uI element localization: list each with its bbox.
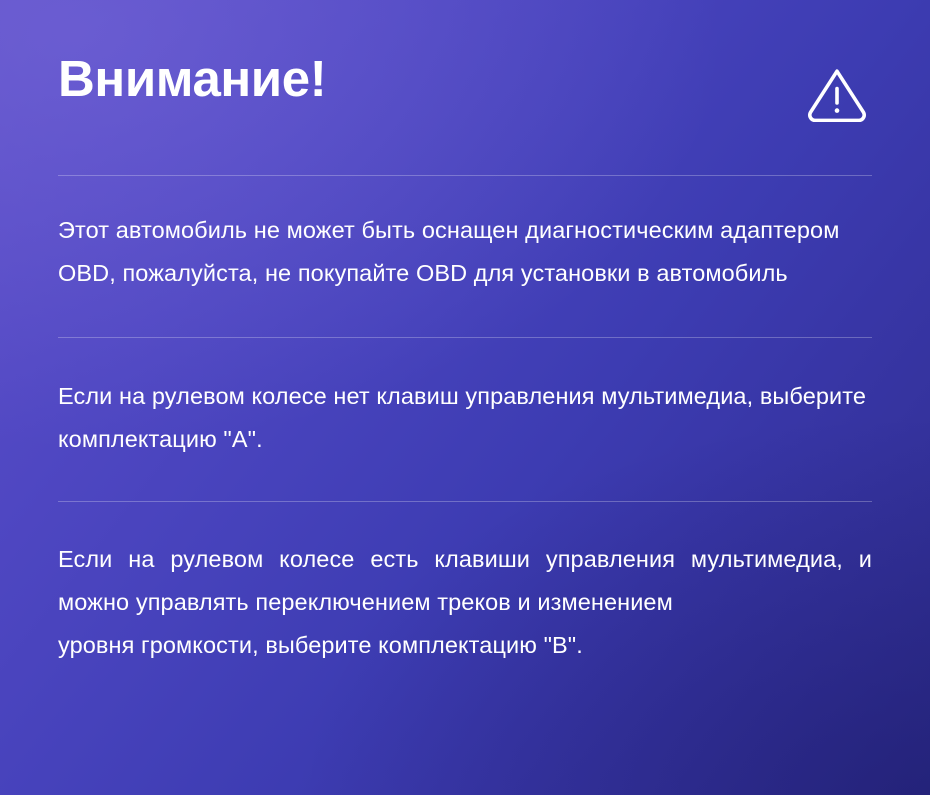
notice-text-variant-b: Если на рулевом колесе есть клавиши упра… [58,502,872,710]
warning-notice-card: Внимание! Этот автомобиль не может быть … [0,0,930,795]
page-title: Внимание! [58,52,326,106]
notice-text-obd-warning: Этот автомобиль не может быть оснащен ди… [58,176,872,295]
notice-text-variant-b-last-line: уровня громкости, выберите комплектацию … [58,624,872,667]
notice-text-variant-b-main: Если на рулевом колесе есть клавиши упра… [58,546,872,615]
warning-triangle-icon [806,66,868,127]
notice-content: Внимание! Этот автомобиль не может быть … [0,0,930,710]
notice-header: Внимание! [58,0,872,127]
notice-text-variant-a: Если на рулевом колесе нет клавиш управл… [58,338,872,461]
